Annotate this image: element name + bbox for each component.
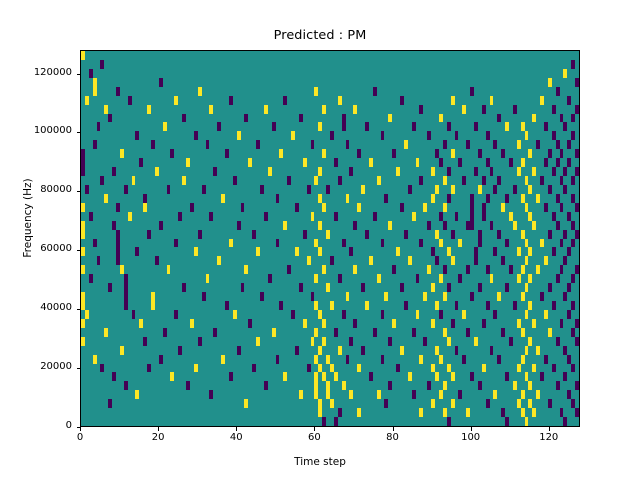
- x-axis-label: Time step: [0, 456, 640, 468]
- y-tick-mark: [77, 368, 81, 369]
- x-tick-mark: [471, 427, 472, 431]
- y-tick-mark: [77, 309, 81, 310]
- x-tick-mark: [393, 427, 394, 431]
- y-tick-label: 60000: [2, 243, 72, 254]
- x-tick-label: 80: [363, 432, 423, 443]
- x-tick-mark: [314, 427, 315, 431]
- y-tick-mark: [77, 191, 81, 192]
- y-tick-label: 40000: [2, 302, 72, 313]
- heatmap-image: [81, 51, 579, 426]
- x-tick-mark: [549, 427, 550, 431]
- x-tick-mark: [236, 427, 237, 431]
- x-tick-label: 40: [206, 432, 266, 443]
- y-tick-label: 0: [2, 420, 72, 431]
- x-tick-label: 100: [441, 432, 501, 443]
- y-tick-mark: [77, 250, 81, 251]
- chart-title: Predicted : PM: [0, 28, 640, 43]
- y-tick-label: 100000: [2, 125, 72, 136]
- y-axis-label: Frequency (Hz): [22, 138, 34, 298]
- y-tick-label: 80000: [2, 184, 72, 195]
- x-tick-label: 20: [128, 432, 188, 443]
- matplotlib-figure: Predicted : PM 0200004000060000800001000…: [0, 0, 640, 480]
- y-tick-label: 120000: [2, 67, 72, 78]
- x-tick-label: 0: [50, 432, 110, 443]
- x-tick-label: 120: [519, 432, 579, 443]
- x-tick-mark: [80, 427, 81, 431]
- y-tick-label: 20000: [2, 361, 72, 372]
- x-tick-mark: [158, 427, 159, 431]
- y-tick-mark: [77, 132, 81, 133]
- x-tick-label: 60: [284, 432, 344, 443]
- y-tick-mark: [77, 74, 81, 75]
- heatmap-plot-area: [80, 50, 580, 427]
